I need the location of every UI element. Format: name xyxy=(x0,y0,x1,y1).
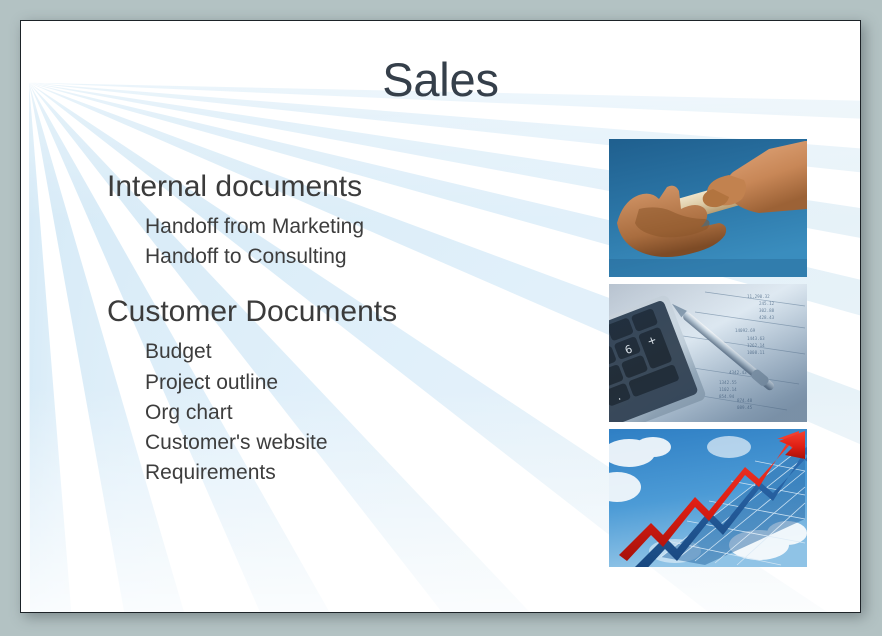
section-heading: Customer Documents xyxy=(107,292,567,331)
growth-arrow-chart-photo xyxy=(609,429,807,567)
section-item-list: Handoff from Marketing Handoff to Consul… xyxy=(107,212,567,272)
presentation-slide: Sales Internal documents Handoff from Ma… xyxy=(20,20,861,613)
calculator-financial-report-photo: 11,290.32 245.12 302.88 428.43 14092.69 … xyxy=(609,284,807,422)
section-customer-documents: Customer Documents Budget Project outlin… xyxy=(107,292,567,488)
section-item-list: Budget Project outline Org chart Custome… xyxy=(107,337,567,488)
section-heading: Internal documents xyxy=(107,167,567,206)
section-internal-documents: Internal documents Handoff from Marketin… xyxy=(107,167,567,272)
list-item: Budget xyxy=(145,337,567,367)
list-item: Handoff to Consulting xyxy=(145,242,567,272)
slide-title: Sales xyxy=(21,53,860,107)
list-item: Customer's website xyxy=(145,428,567,458)
relay-baton-handoff-photo xyxy=(609,139,807,277)
list-item: Project outline xyxy=(145,368,567,398)
slide-body-text: Internal documents Handoff from Marketin… xyxy=(107,167,567,509)
list-item: Requirements xyxy=(145,458,567,488)
list-item: Org chart xyxy=(145,398,567,428)
list-item: Handoff from Marketing xyxy=(145,212,567,242)
slide-picture-column: 11,290.32 245.12 302.88 428.43 14092.69 … xyxy=(609,139,807,574)
